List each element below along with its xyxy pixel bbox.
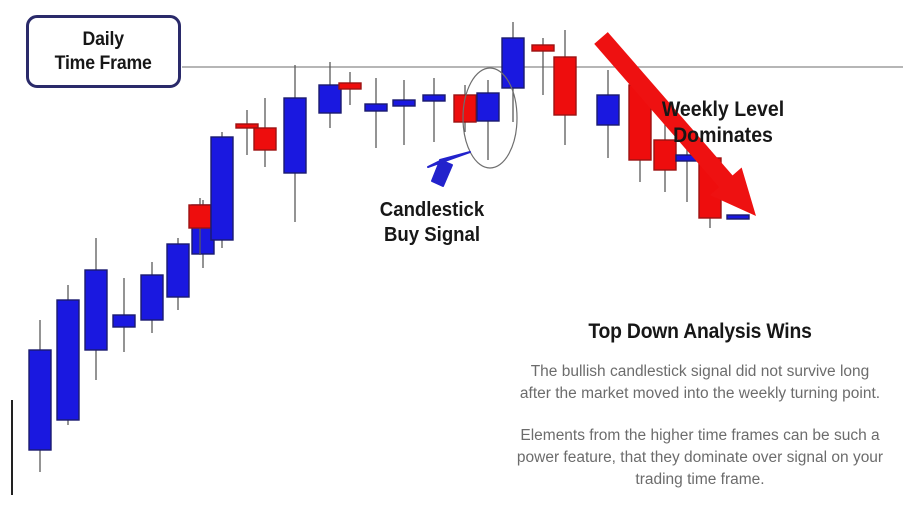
candle-body-3 bbox=[85, 270, 107, 350]
candle-body-23 bbox=[532, 45, 554, 51]
candle-body-16 bbox=[339, 83, 361, 89]
analysis-paragraph-1: The bullish candlestick signal did not s… bbox=[510, 361, 890, 405]
candle-body-18 bbox=[393, 100, 415, 106]
candle-body-25 bbox=[597, 95, 619, 125]
candle-30 bbox=[727, 215, 749, 219]
candle-body-4 bbox=[113, 315, 135, 327]
candle-body-6 bbox=[167, 244, 189, 297]
candle-13 bbox=[254, 98, 276, 167]
analysis-text-block: Top Down Analysis Wins The bullish candl… bbox=[510, 320, 890, 491]
candle-body-13 bbox=[254, 128, 276, 150]
candle-body-11 bbox=[211, 137, 233, 240]
candle-body-14 bbox=[284, 98, 306, 173]
candle-16 bbox=[339, 72, 361, 105]
candle-body-17 bbox=[365, 104, 387, 111]
candle-19 bbox=[423, 78, 445, 142]
candle-14 bbox=[284, 65, 306, 222]
candle-body-1 bbox=[29, 350, 51, 450]
buy-signal-arrow bbox=[428, 152, 470, 186]
candle-4 bbox=[113, 278, 135, 352]
candle-11 bbox=[211, 132, 233, 248]
candle-17 bbox=[365, 78, 387, 148]
chart-canvas: Daily Time Frame Weekly Level Dominates … bbox=[0, 0, 908, 525]
candlestick-signal-line2: Buy Signal bbox=[380, 223, 484, 248]
candle-15 bbox=[319, 62, 341, 128]
candle-body-21 bbox=[477, 93, 499, 121]
weekly-level-dominates-label: Weekly Level Dominates bbox=[662, 97, 784, 150]
daily-time-frame-line1: Daily bbox=[83, 28, 124, 51]
candle-3 bbox=[85, 238, 107, 380]
analysis-title: Top Down Analysis Wins bbox=[525, 320, 875, 344]
daily-time-frame-label: Daily Time Frame bbox=[26, 15, 181, 88]
candlestick-buy-signal-label: Candlestick Buy Signal bbox=[380, 198, 484, 248]
candle-body-2 bbox=[57, 300, 79, 420]
candle-20 bbox=[454, 85, 476, 132]
candle-22 bbox=[502, 22, 524, 122]
candle-21 bbox=[477, 80, 499, 160]
weekly-level-line2: Dominates bbox=[662, 123, 784, 149]
candle-6 bbox=[167, 238, 189, 310]
candle-24 bbox=[554, 30, 576, 145]
analysis-paragraph-2: Elements from the higher time frames can… bbox=[510, 425, 890, 491]
candlestick-signal-line1: Candlestick bbox=[380, 198, 484, 223]
candle-body-24 bbox=[554, 57, 576, 115]
candle-body-22 bbox=[502, 38, 524, 88]
candle-body-19 bbox=[423, 95, 445, 101]
weekly-level-line1: Weekly Level bbox=[662, 97, 784, 123]
candle-18 bbox=[393, 80, 415, 145]
candle-25 bbox=[597, 70, 619, 158]
candle-1 bbox=[29, 320, 51, 472]
candle-body-15 bbox=[319, 85, 341, 113]
candle-5 bbox=[141, 262, 163, 333]
daily-time-frame-line2: Time Frame bbox=[55, 52, 152, 75]
candle-2 bbox=[57, 285, 79, 425]
candle-body-10 bbox=[189, 205, 211, 228]
candle-body-30 bbox=[727, 215, 749, 219]
candle-body-5 bbox=[141, 275, 163, 320]
